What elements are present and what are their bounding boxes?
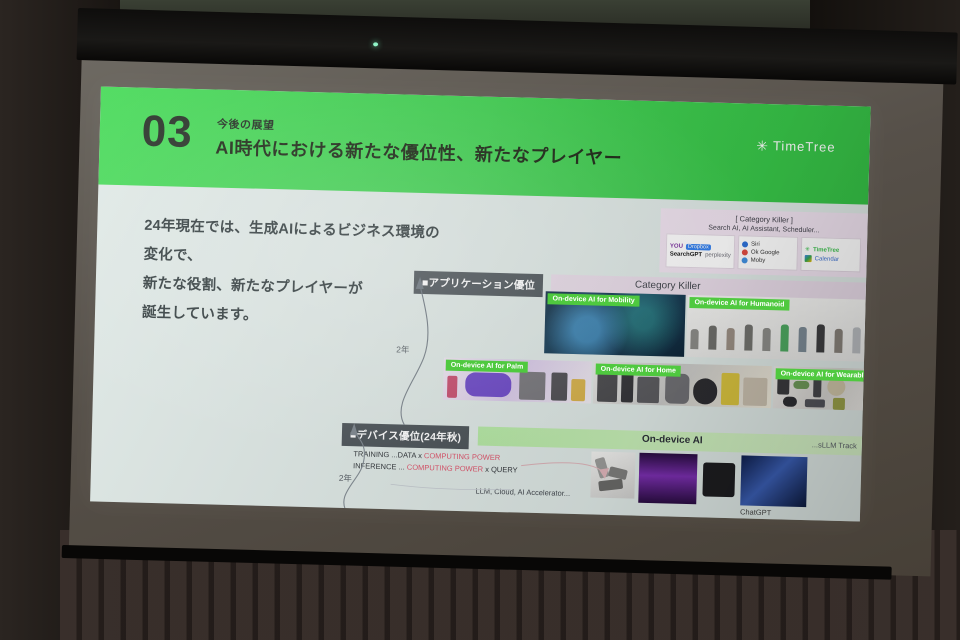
logo-group-calendar: ✳ TimeTree Calendar <box>800 237 861 273</box>
logo-row-calendar: Calendar <box>805 255 857 263</box>
logo-row-siri: Siri <box>742 241 794 248</box>
logo-row-1: YOU Dropbox <box>670 243 731 251</box>
lede-line-1: 24年現在では、生成AIによるビジネス環境の変化で、 <box>143 212 444 278</box>
logo-row-moby: Moby <box>742 257 794 264</box>
caption-ondevice-home: On-device AI for Home <box>596 364 681 377</box>
formula-inference-dim: ... <box>398 462 407 471</box>
humanoid-figure <box>834 329 843 353</box>
device-thumb <box>551 372 568 400</box>
section-number: 03 <box>141 110 193 155</box>
logo-group-search: YOU Dropbox SearchGPT perplexity <box>665 233 735 269</box>
logo-moby: Moby <box>751 258 766 264</box>
band-label-ondevice-ai: On-device AI <box>642 434 703 447</box>
humanoid-figure <box>744 324 753 350</box>
logo-siri: Siri <box>751 242 760 248</box>
presentation-slide: 03 今後の展望 AI時代における新たな優位性、新たなプレイヤー ✳ TimeT… <box>90 87 871 522</box>
timetree-mini-icon: ✳ <box>805 246 810 253</box>
formula-training-red: COMPUTING POWER <box>424 451 500 462</box>
slide-header: 03 今後の展望 AI時代における新たな優位性、新たなプレイヤー ✳ TimeT… <box>98 87 870 205</box>
photo-datacenter-purple <box>638 453 697 505</box>
band-note-sllm-track: ...sLLM Track <box>812 440 857 450</box>
robot-part <box>598 479 623 492</box>
device-thumb <box>665 373 690 404</box>
infra-formulas: TRAINING ...DATA x COMPUTING POWER INFER… <box>353 448 518 476</box>
logo-perplexity: perplexity <box>705 252 731 259</box>
logo-searchgpt: SearchGPT <box>670 251 703 258</box>
device-thumb <box>597 372 618 403</box>
humanoid-figure <box>708 326 717 350</box>
device-thumb <box>465 372 512 397</box>
humanoid-figure <box>690 329 699 349</box>
lede-paragraph: 24年現在では、生成AIによるビジネス環境の変化で、 新たな役割、新たなプレイヤ… <box>142 212 445 336</box>
photo-ai-accelerator-chip <box>702 462 735 497</box>
device-thumb <box>805 399 825 408</box>
infra-step-1: Machine Learning <box>479 521 559 522</box>
tier-chip-device: ■デバイス優位(24年秋) <box>342 423 470 449</box>
tier-band-infra: Machine Learning → Deep Learning → Gener… <box>439 517 859 522</box>
projection-screen: 03 今後の展望 AI時代における新たな優位性、新たなプレイヤー ✳ TimeT… <box>69 46 944 576</box>
logo-row-timetree: ✳ TimeTree <box>805 246 857 254</box>
status-led-icon <box>373 42 378 46</box>
device-thumb <box>743 377 768 406</box>
formula-inference-red: COMPUTING POWER <box>407 462 483 473</box>
calendar-icon <box>805 255 812 262</box>
room-photo: 03 今後の展望 AI時代における新たな優位性、新たなプレイヤー ✳ TimeT… <box>0 0 960 640</box>
logo-row-okgoogle: Ok Google <box>742 249 794 256</box>
photo-robot-arm <box>590 451 635 498</box>
band-label-category-killer: Category Killer <box>635 280 701 293</box>
tier-chip-application: ■アプリケーション優位 <box>414 271 544 297</box>
page-title: AI時代における新たな優位性、新たなプレイヤー <box>215 134 623 171</box>
photo-server-racks <box>740 455 807 507</box>
device-thumb <box>783 396 797 406</box>
formula-training-label: TRAINING <box>353 449 389 459</box>
logo-group-assistant: Siri Ok Google Moby <box>737 235 798 271</box>
device-thumb <box>571 379 586 401</box>
moby-icon <box>742 257 748 263</box>
device-thumb <box>833 398 845 410</box>
logo-you: YOU <box>670 243 683 249</box>
humanoid-figure <box>762 328 771 351</box>
tier-band-device: On-device AI ...sLLM Track <box>478 427 862 456</box>
tier-chip-infra: ■インフラ優位(22年秋) <box>302 513 430 522</box>
humanoid-figure <box>816 324 825 352</box>
humanoid-figure <box>852 327 861 353</box>
device-thumb <box>447 376 458 398</box>
device-thumb <box>519 372 546 401</box>
section-kicker: 今後の展望 <box>217 116 275 133</box>
timetree-asterisk-icon: ✳ <box>756 138 769 152</box>
logo-dropbox: Dropbox <box>686 244 711 251</box>
timetree-logo-text: TimeTree <box>773 138 836 155</box>
humanoid-figure <box>798 327 807 352</box>
google-icon <box>742 249 748 255</box>
formula-inference-tail: x QUERY <box>483 464 518 474</box>
year-label-lower: 2年 <box>339 472 353 484</box>
humanoid-figures <box>690 315 861 353</box>
category-killer-panel: [ Category Killer ] Search AI, AI Assist… <box>659 208 868 277</box>
device-thumb <box>693 378 718 405</box>
logo-row-2: SearchGPT perplexity <box>670 251 731 259</box>
timetree-logo: ✳ TimeTree <box>756 138 836 155</box>
logo-ok-google: Ok Google <box>751 250 780 257</box>
formula-training-dim: ...DATA x <box>391 450 424 460</box>
device-thumb <box>637 377 660 404</box>
year-label-upper: 2年 <box>396 343 410 355</box>
category-killer-logos: YOU Dropbox SearchGPT perplexity Siri <box>665 233 861 272</box>
infra-stack-note: LLM, Cloud, AI Accelerator... <box>475 486 570 497</box>
caption-chatgpt: ChatGPT <box>740 507 771 517</box>
device-thumb <box>793 381 809 389</box>
formula-inference-label: INFERENCE <box>353 461 397 471</box>
logo-calendar: Calendar <box>815 256 840 263</box>
caption-ondevice-palm: On-device AI for Palm <box>446 360 529 373</box>
humanoid-figure <box>726 328 735 350</box>
robot-part <box>595 457 610 479</box>
siri-icon <box>742 241 748 247</box>
humanoid-figure <box>780 324 789 351</box>
device-thumb <box>721 373 740 405</box>
logo-timetree: TimeTree <box>813 247 839 254</box>
